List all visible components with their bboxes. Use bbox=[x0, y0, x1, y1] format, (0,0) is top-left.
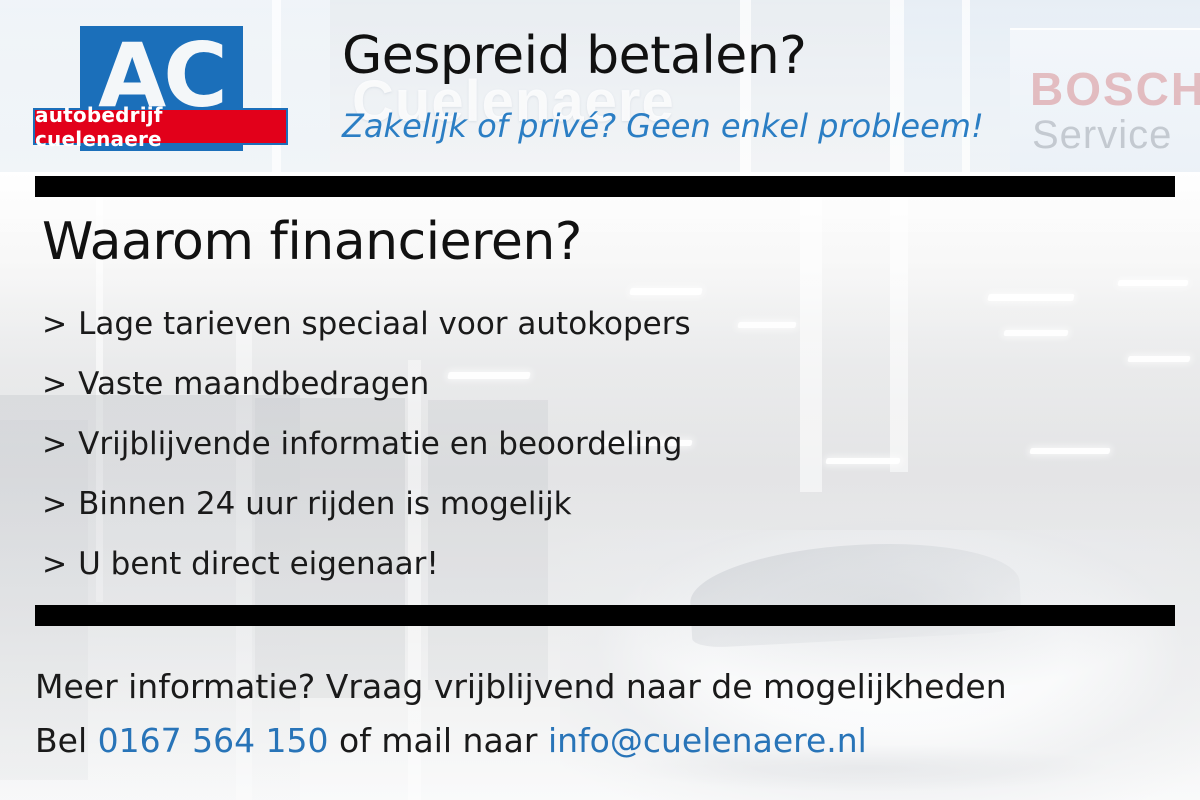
footer-contact-line: Bel 0167 564 150 of mail naar info@cuele… bbox=[35, 714, 1175, 768]
divider-bar-bottom bbox=[35, 605, 1175, 626]
list-item: > U bent direct eigenaar! bbox=[42, 534, 942, 594]
company-logo: AC autobedrijf cuelenaere bbox=[33, 26, 288, 151]
footer-info-line: Meer informatie? Vraag vrijblijvend naar… bbox=[35, 660, 1175, 714]
list-item-label: Vrijblijvende informatie en beoordeling bbox=[78, 414, 682, 474]
benefits-list: > Lage tarieven speciaal voor autokopers… bbox=[42, 294, 942, 594]
bullet-marker-icon: > bbox=[42, 295, 67, 355]
bullet-marker-icon: > bbox=[42, 355, 67, 415]
list-item-label: U bent direct eigenaar! bbox=[78, 534, 439, 594]
logo-red-banner: autobedrijf cuelenaere bbox=[33, 108, 288, 145]
section-title: Waarom financieren? bbox=[42, 216, 582, 268]
list-item: > Binnen 24 uur rijden is mogelijk bbox=[42, 474, 942, 534]
bullet-marker-icon: > bbox=[42, 535, 67, 595]
list-item: > Lage tarieven speciaal voor autokopers bbox=[42, 294, 942, 354]
call-prefix-label: Bel bbox=[35, 721, 98, 760]
divider-bar-top bbox=[35, 176, 1175, 197]
mail-middle-label: of mail naar bbox=[329, 721, 548, 760]
list-item-label: Lage tarieven speciaal voor autokopers bbox=[78, 294, 691, 354]
phone-number-link[interactable]: 0167 564 150 bbox=[98, 721, 329, 760]
list-item: > Vaste maandbedragen bbox=[42, 354, 942, 414]
contact-footer: Meer informatie? Vraag vrijblijvend naar… bbox=[35, 660, 1175, 768]
email-link[interactable]: info@cuelenaere.nl bbox=[548, 721, 867, 760]
list-item-label: Binnen 24 uur rijden is mogelijk bbox=[78, 474, 572, 534]
poster-content: AC autobedrijf cuelenaere Gespreid betal… bbox=[0, 0, 1200, 800]
list-item-label: Vaste maandbedragen bbox=[78, 354, 429, 414]
list-item: > Vrijblijvende informatie en beoordelin… bbox=[42, 414, 942, 474]
bullet-marker-icon: > bbox=[42, 475, 67, 535]
poster-headline: Gespreid betalen? bbox=[342, 30, 1042, 82]
logo-tagline: autobedrijf cuelenaere bbox=[35, 103, 286, 151]
poster-subheadline: Zakelijk of privé? Geen enkel probleem! bbox=[342, 110, 1082, 142]
bullet-marker-icon: > bbox=[42, 415, 67, 475]
